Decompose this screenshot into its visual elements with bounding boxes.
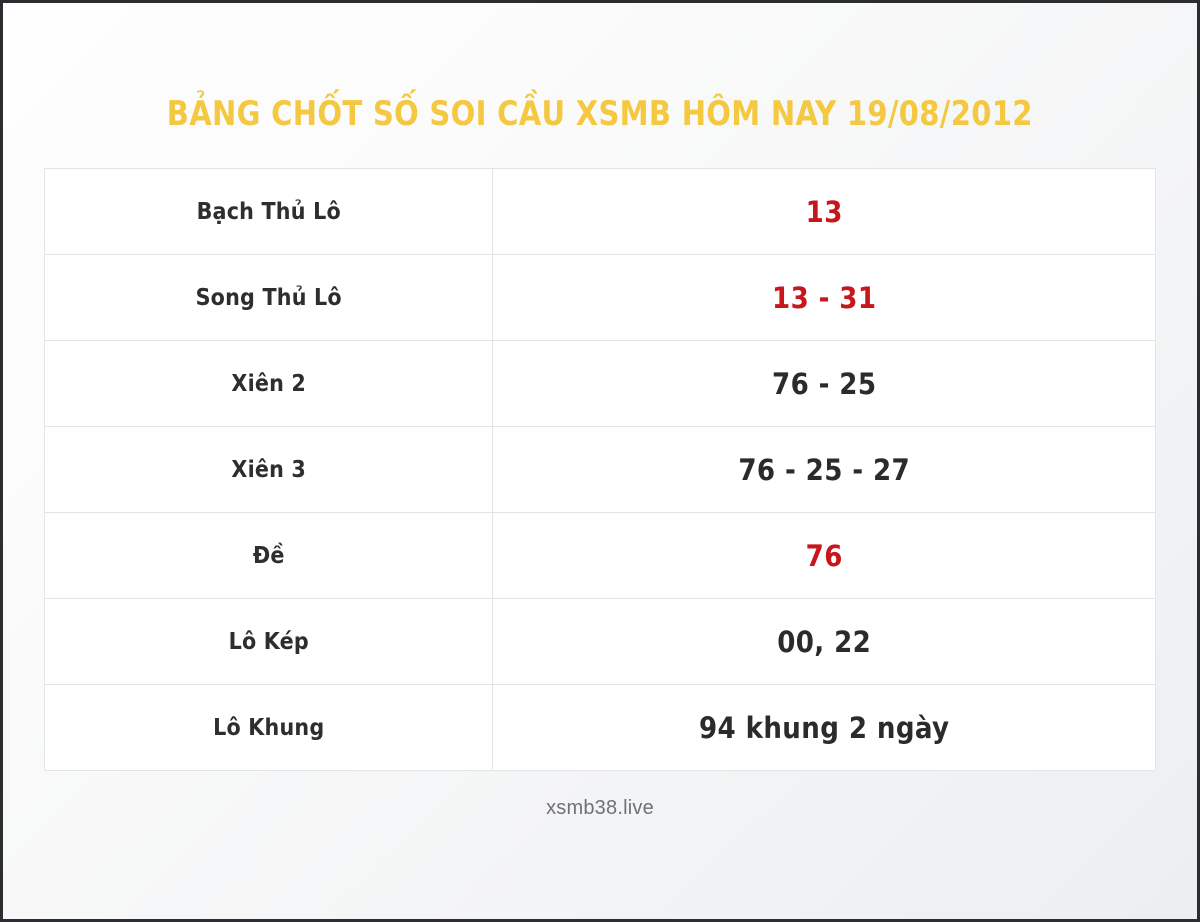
row-label: Xiên 2 [231, 371, 306, 397]
table-row: Xiên 376 - 25 - 27 [45, 427, 1156, 513]
row-label-cell: Bạch Thủ Lô [45, 169, 493, 255]
row-label-cell: Đề [45, 513, 493, 599]
table-row: Song Thủ Lô13 - 31 [45, 255, 1156, 341]
row-label: Đề [253, 543, 285, 569]
row-value-cell: 76 [493, 513, 1156, 599]
row-value: 00, 22 [777, 625, 871, 659]
row-value: 76 [806, 539, 843, 573]
row-label-cell: Lô Kép [45, 599, 493, 685]
row-value-cell: 94 khung 2 ngày [493, 685, 1156, 771]
row-label-cell: Xiên 3 [45, 427, 493, 513]
page-container: BẢNG CHỐT SỐ SOI CẦU XSMB HÔM NAY 19/08/… [0, 0, 1200, 922]
row-value-cell: 00, 22 [493, 599, 1156, 685]
table-row: Lô Kép00, 22 [45, 599, 1156, 685]
row-label: Lô Kép [229, 629, 309, 655]
row-value: 76 - 25 - 27 [738, 453, 910, 487]
row-label: Bạch Thủ Lô [197, 199, 341, 225]
row-value: 76 - 25 [772, 367, 876, 401]
row-label-cell: Song Thủ Lô [45, 255, 493, 341]
table-row: Đề76 [45, 513, 1156, 599]
table-body: Bạch Thủ Lô13Song Thủ Lô13 - 31Xiên 276 … [45, 169, 1156, 771]
page-title: BẢNG CHỐT SỐ SOI CẦU XSMB HÔM NAY 19/08/… [167, 96, 1033, 133]
chot-so-table: Bạch Thủ Lô13Song Thủ Lô13 - 31Xiên 276 … [44, 168, 1156, 771]
row-label: Xiên 3 [231, 457, 306, 483]
chot-so-table-wrapper: Bạch Thủ Lô13Song Thủ Lô13 - 31Xiên 276 … [44, 168, 1156, 771]
table-row: Xiên 276 - 25 [45, 341, 1156, 427]
row-label: Song Thủ Lô [196, 285, 342, 311]
row-label-cell: Lô Khung [45, 685, 493, 771]
row-value: 13 [806, 195, 843, 229]
row-label: Lô Khung [213, 715, 324, 741]
table-row: Lô Khung94 khung 2 ngày [45, 685, 1156, 771]
row-value-cell: 13 - 31 [493, 255, 1156, 341]
row-value-cell: 76 - 25 - 27 [493, 427, 1156, 513]
row-value-cell: 76 - 25 [493, 341, 1156, 427]
table-row: Bạch Thủ Lô13 [45, 169, 1156, 255]
row-value-cell: 13 [493, 169, 1156, 255]
site-watermark: xsmb38.live [546, 797, 654, 820]
row-value: 13 - 31 [772, 281, 876, 315]
row-value: 94 khung 2 ngày [699, 711, 949, 745]
row-label-cell: Xiên 2 [45, 341, 493, 427]
